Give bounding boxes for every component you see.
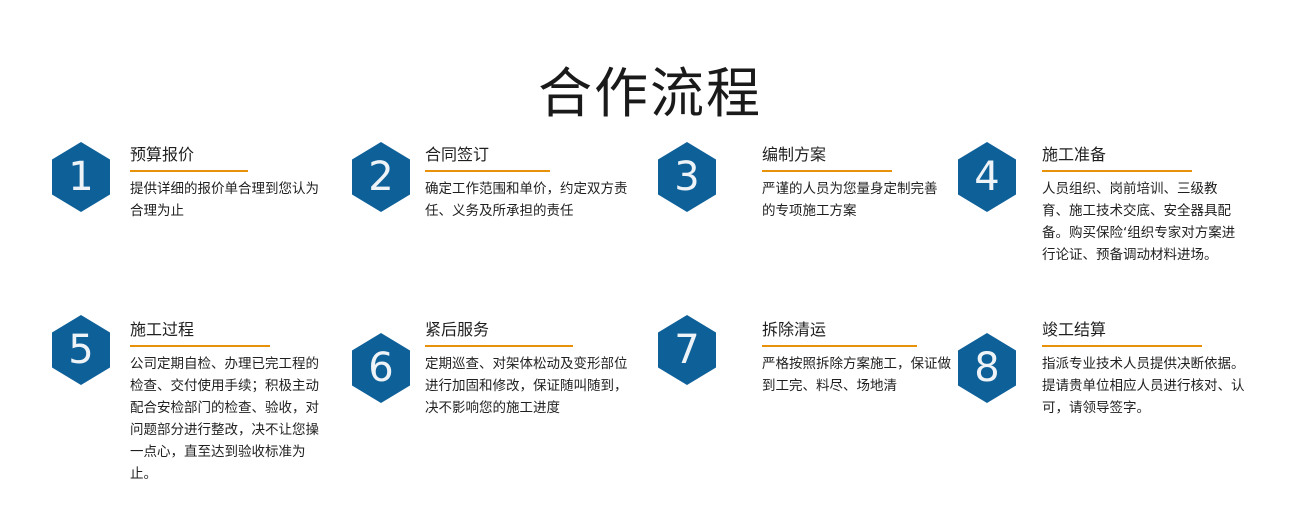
step-description: 人员组织、岗前培训、三级教育、施工技术交底、安全器具配备。购买保险‘组织专家对方… (1042, 178, 1240, 266)
step-hexagon-badge: 2 (352, 142, 410, 212)
step-title: 合同签订 (425, 145, 630, 165)
process-steps-container: 1预算报价提供详细的报价单合理到您认为合理为止2合同签订确定工作范围和单价，约定… (0, 0, 1300, 532)
step-title-underline (1042, 345, 1202, 347)
step-number: 6 (368, 348, 393, 388)
step-hexagon-badge: 8 (958, 333, 1016, 403)
step-number: 4 (974, 157, 999, 197)
step-hexagon-badge: 5 (52, 315, 110, 385)
step-text-block: 预算报价提供详细的报价单合理到您认为合理为止 (130, 145, 330, 222)
step-title-underline (1042, 170, 1192, 172)
step-number: 3 (674, 157, 699, 197)
step-text-block: 施工过程公司定期自检、办理已完工程的检查、交付使用手续；积极主动配合安检部门的检… (130, 320, 330, 485)
step-title: 施工准备 (1042, 145, 1240, 165)
step-title: 拆除清运 (762, 320, 962, 340)
step-title-underline (762, 345, 917, 347)
step-number: 1 (68, 157, 93, 197)
step-title: 施工过程 (130, 320, 330, 340)
step-text-block: 竣工结算指派专业技术人员提供决断依据。提请贵单位相应人员进行核对、认可，请领导签… (1042, 320, 1257, 419)
step-hexagon-badge: 4 (958, 142, 1016, 212)
step-number: 7 (674, 330, 699, 370)
step-number: 2 (368, 157, 393, 197)
step-title-underline (425, 170, 550, 172)
step-hexagon-badge: 3 (658, 142, 716, 212)
step-description: 提供详细的报价单合理到您认为合理为止 (130, 178, 330, 222)
step-title: 预算报价 (130, 145, 330, 165)
step-text-block: 施工准备人员组织、岗前培训、三级教育、施工技术交底、安全器具配备。购买保险‘组织… (1042, 145, 1240, 266)
step-hexagon-badge: 1 (52, 142, 110, 212)
step-title-underline (762, 170, 892, 172)
step-title: 编制方案 (762, 145, 947, 165)
step-title-underline (130, 170, 248, 172)
step-description: 严格按照拆除方案施工，保证做到工完、料尽、场地清 (762, 353, 962, 397)
step-hexagon-badge: 6 (352, 333, 410, 403)
step-number: 5 (68, 330, 93, 370)
step-hexagon-badge: 7 (658, 315, 716, 385)
step-description: 确定工作范围和单价，约定双方责任、义务及所承担的责任 (425, 178, 630, 222)
step-description: 指派专业技术人员提供决断依据。提请贵单位相应人员进行核对、认可，请领导签字。 (1042, 353, 1257, 419)
step-description: 公司定期自检、办理已完工程的检查、交付使用手续；积极主动配合安检部门的检查、验收… (130, 353, 330, 485)
step-text-block: 紧后服务定期巡查、对架体松动及变形部位进行加固和修改，保证随叫随到，决不影响您的… (425, 320, 637, 419)
step-title-underline (130, 345, 270, 347)
step-number: 8 (974, 348, 999, 388)
step-text-block: 合同签订确定工作范围和单价，约定双方责任、义务及所承担的责任 (425, 145, 630, 222)
step-title: 紧后服务 (425, 320, 637, 340)
step-title: 竣工结算 (1042, 320, 1257, 340)
step-description: 严谨的人员为您量身定制完善的专项施工方案 (762, 178, 947, 222)
step-text-block: 编制方案严谨的人员为您量身定制完善的专项施工方案 (762, 145, 947, 222)
step-title-underline (425, 345, 573, 347)
step-description: 定期巡查、对架体松动及变形部位进行加固和修改，保证随叫随到，决不影响您的施工进度 (425, 353, 637, 419)
step-text-block: 拆除清运严格按照拆除方案施工，保证做到工完、料尽、场地清 (762, 320, 962, 397)
